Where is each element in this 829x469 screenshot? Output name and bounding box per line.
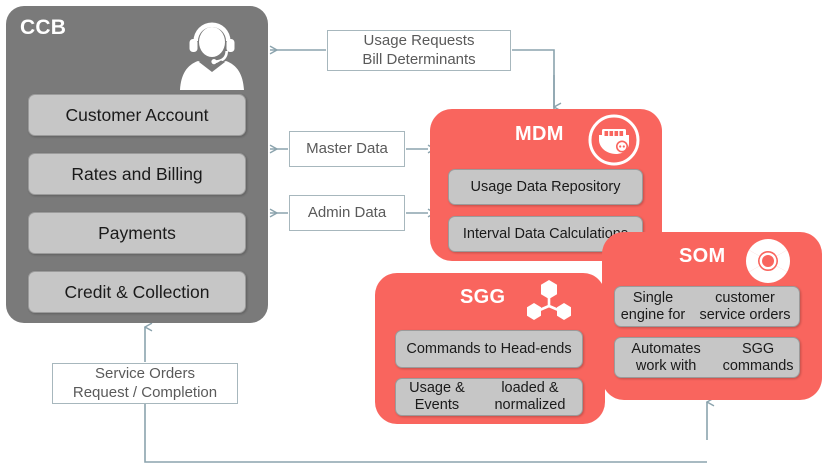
- som-item-single-engine-line2: customer service orders: [691, 290, 799, 323]
- ccb-item-rates-and-billing[interactable]: Rates and Billing: [28, 153, 246, 195]
- label-admin-data[interactable]: Admin Data: [289, 195, 405, 231]
- utility-meter-icon: [588, 114, 640, 166]
- som-panel[interactable]: SOM Single engine for customer service o…: [602, 232, 822, 400]
- sgg-item-usage-events-line2: loaded & normalized: [478, 380, 582, 413]
- label-master-data[interactable]: Master Data: [289, 131, 405, 167]
- som-item-list: Single engine for customer service order…: [614, 286, 800, 388]
- ccb-item-payments[interactable]: Payments: [28, 212, 246, 254]
- label-usage-requests-line1: Usage Requests: [364, 32, 475, 50]
- som-item-single-engine[interactable]: Single engine for customer service order…: [614, 286, 800, 327]
- ccb-panel[interactable]: CCB Customer Account R: [6, 6, 268, 323]
- label-usage-requests-line2: Bill Determinants: [362, 51, 475, 69]
- line-mdm-to-ccb: [512, 50, 554, 109]
- network-nodes-icon: [523, 278, 575, 326]
- sgg-item-usage-events-line1: Usage & Events: [396, 380, 478, 413]
- som-item-automates-work[interactable]: Automates work with SGG commands: [614, 337, 800, 378]
- mdm-item-usage-data-repository[interactable]: Usage Data Repository: [448, 169, 643, 205]
- label-service-orders-line2: Request / Completion: [73, 384, 217, 402]
- som-item-single-engine-line1: Single engine for: [615, 290, 691, 323]
- mdm-title: MDM: [515, 123, 564, 146]
- ccb-item-customer-account[interactable]: Customer Account: [28, 94, 246, 136]
- ccb-item-list: Customer Account Rates and Billing Payme…: [28, 94, 246, 330]
- ccb-item-credit-collection[interactable]: Credit & Collection: [28, 271, 246, 313]
- label-master-data-text: Master Data: [306, 140, 388, 158]
- sgg-title: SGG: [460, 286, 505, 309]
- sgg-item-list: Commands to Head-ends Usage & Events loa…: [395, 330, 583, 426]
- som-title: SOM: [679, 245, 725, 268]
- headset-agent-icon: [173, 10, 251, 92]
- life-ring-icon: [744, 237, 792, 285]
- diagram-canvas: CCB Customer Account R: [0, 0, 829, 469]
- sgg-item-commands-to-head-ends[interactable]: Commands to Head-ends: [395, 330, 583, 368]
- sgg-panel[interactable]: SGG Commands to Head-ends Usage & Events…: [375, 273, 605, 424]
- som-item-automates-work-line2: SGG commands: [717, 341, 799, 374]
- sgg-item-usage-events[interactable]: Usage & Events loaded & normalized: [395, 378, 583, 416]
- label-service-orders-line1: Service Orders: [95, 365, 195, 383]
- label-service-orders[interactable]: Service Orders Request / Completion: [52, 363, 238, 404]
- ccb-title: CCB: [20, 16, 66, 40]
- label-admin-data-text: Admin Data: [308, 204, 386, 222]
- som-item-automates-work-line1: Automates work with: [615, 341, 717, 374]
- label-usage-requests[interactable]: Usage Requests Bill Determinants: [327, 30, 511, 71]
